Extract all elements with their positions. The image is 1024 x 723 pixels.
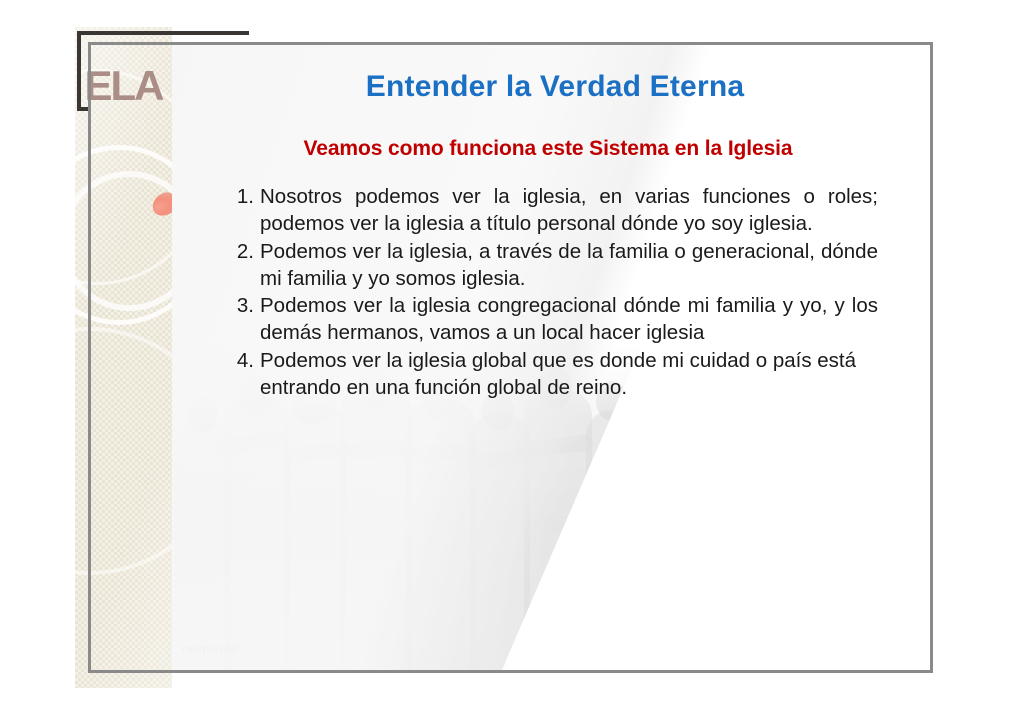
list-item-text: Podemos ver la iglesia, a través de la f…	[260, 238, 878, 293]
slide-canvas: ELA rawp	[0, 0, 1024, 723]
list-item-text: Podemos ver la iglesia congregacional dó…	[260, 292, 878, 347]
list-item-text: Nosotros podemos ver la iglesia, en vari…	[260, 183, 878, 238]
numbered-bullet-list: 1. Nosotros podemos ver la iglesia, en v…	[222, 183, 878, 401]
panel-sheen	[75, 27, 172, 688]
list-item: 1. Nosotros podemos ver la iglesia, en v…	[222, 183, 878, 238]
list-item-number: 4.	[226, 347, 254, 374]
list-item: 4. Podemos ver la iglesia global que es …	[222, 347, 878, 402]
page-subtitle: Veamos como funciona este Sistema en la …	[190, 137, 906, 161]
list-item-text: Podemos ver la iglesia global que es don…	[260, 347, 878, 402]
list-item-number: 2.	[226, 238, 254, 265]
rawpixel-watermark: rawpixel®	[182, 642, 239, 656]
list-item-number: 3.	[226, 292, 254, 319]
dark-bracket-foot	[77, 107, 91, 111]
list-item: 3. Podemos ver la iglesia congregacional…	[222, 292, 878, 347]
left-decorative-panel: ELA	[75, 27, 172, 688]
list-item-number: 1.	[226, 183, 254, 210]
list-item: 2. Podemos ver la iglesia, a través de l…	[222, 238, 878, 293]
page-title: Entender la Verdad Eterna	[190, 70, 920, 104]
